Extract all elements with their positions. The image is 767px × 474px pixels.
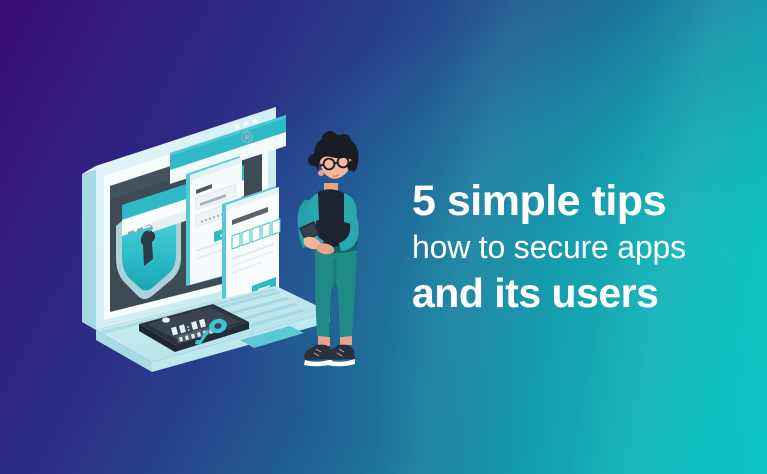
headline-block: 5 simple tips how to secure apps and its… [412,177,712,317]
headline-line-2: how to secure apps [412,225,712,270]
left-ankle [318,336,330,346]
lid-left-edge [82,166,96,330]
right-shoe [327,345,355,367]
dot-3[interactable] [252,119,257,123]
otp-box-4[interactable] [262,223,270,239]
headline-line-1: 5 simple tips [412,177,712,225]
hair-curl-top-right [337,134,351,148]
message-icon [162,317,170,322]
hair-curl-top [322,131,338,147]
headline-line-3: and its users [412,270,712,317]
promo-banner: 5 simple tips how to secure apps and its… [0,0,767,474]
otp-box-5[interactable] [272,219,280,235]
standing-person-with-phone [298,131,359,366]
right-ankle [340,336,352,345]
hair-curl-left [308,154,320,166]
otp-box-1[interactable] [232,233,240,249]
pants-crease [333,258,337,292]
otp-box-3[interactable] [252,226,260,242]
dot-2[interactable] [243,122,248,126]
otp-box-2[interactable] [242,230,250,246]
laptop [82,107,330,372]
dot-1[interactable] [234,125,239,129]
